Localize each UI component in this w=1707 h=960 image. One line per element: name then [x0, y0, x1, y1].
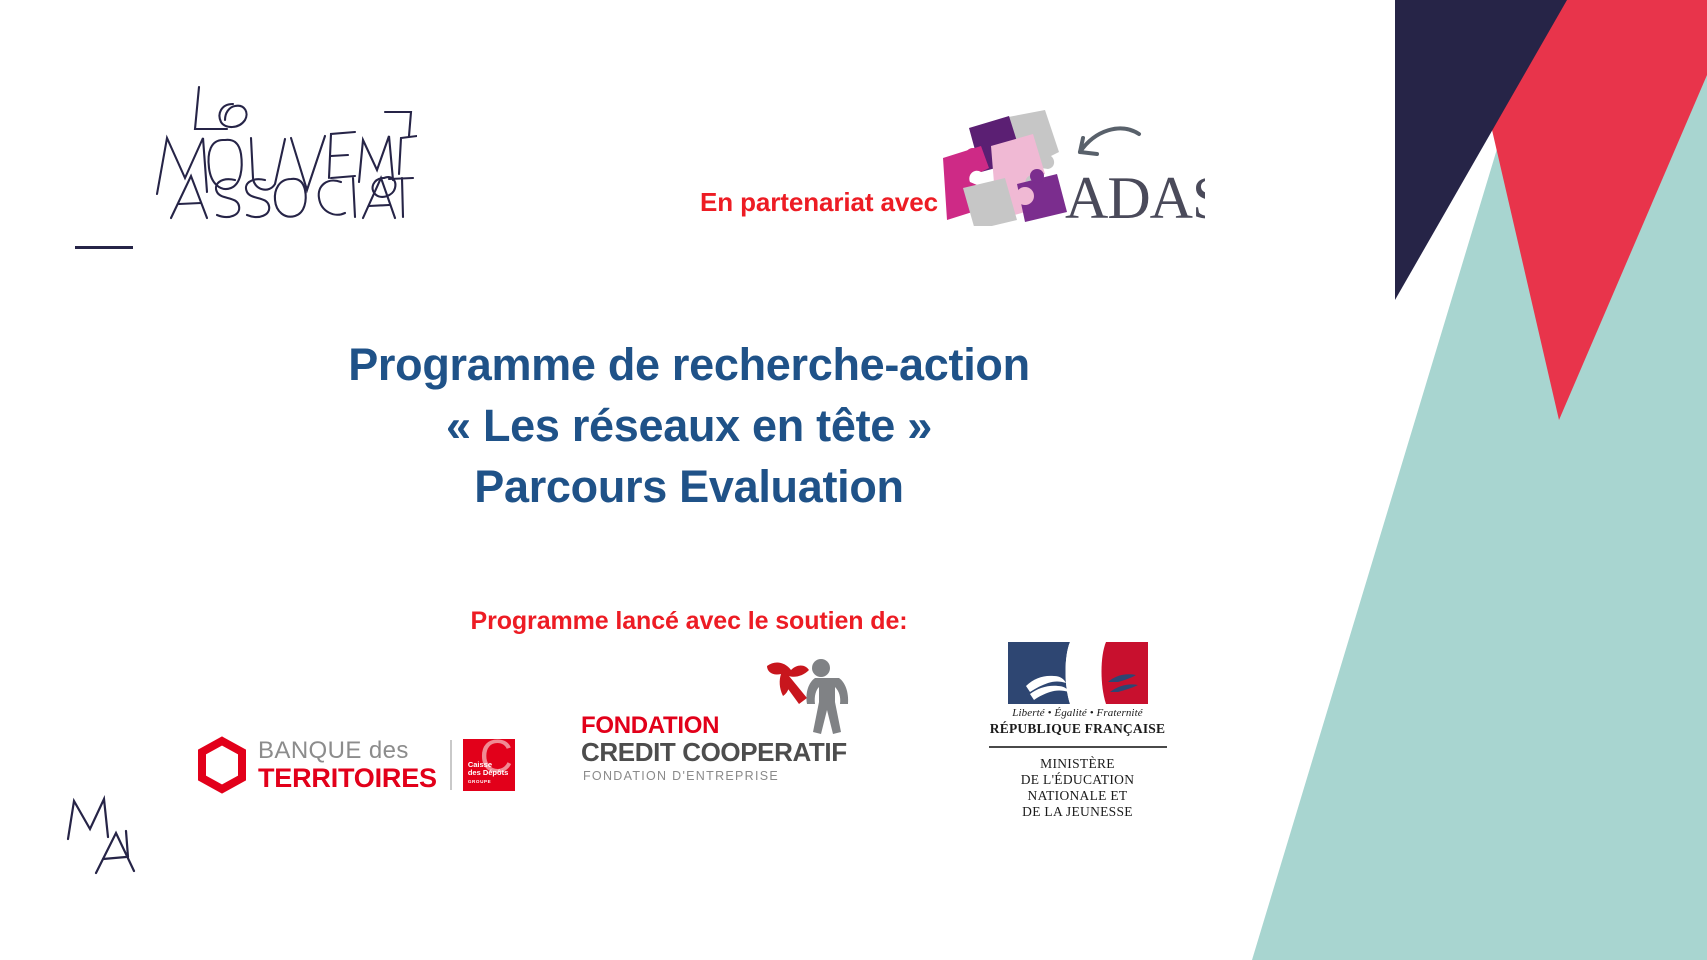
ministry-line-2: DE L'ÉDUCATION: [970, 772, 1185, 788]
le-mouvement-associatif-logo: [155, 82, 417, 222]
support-label: Programme lancé avec le soutien de:: [0, 607, 1378, 636]
fcc-line-3: FONDATION D'ENTREPRISE: [583, 770, 847, 783]
ministry-line-4: DE LA JEUNESSE: [970, 804, 1185, 820]
logo-rule: [989, 746, 1167, 748]
le-mouvement-associatif-monogram: [62, 795, 158, 875]
ministere-education-nationale-logo: Liberté • Égalité • Fraternité RÉPUBLIQU…: [970, 642, 1185, 820]
ministry-line-3: NATIONALE ET: [970, 788, 1185, 804]
french-republic-marianne-icon: [1008, 642, 1148, 704]
page-title: Programme de recherche-action « Les rése…: [0, 334, 1378, 518]
partnership-label: En partenariat avec: [700, 187, 938, 218]
hexagon-ring-icon: [195, 736, 249, 794]
title-line-3: Parcours Evaluation: [0, 456, 1378, 517]
republique-francaise-text: RÉPUBLIQUE FRANÇAISE: [970, 721, 1185, 737]
ministry-line-1: MINISTÈRE: [970, 756, 1185, 772]
logo-underline: [75, 246, 133, 249]
bdt-des-text: des: [362, 737, 409, 764]
ministry-name: MINISTÈRE DE L'ÉDUCATION NATIONALE ET DE…: [970, 756, 1185, 820]
cdc-badge-text: Caisse des Dépôts GROUPE: [468, 761, 508, 787]
adasi-wordmark: ADASI: [1065, 165, 1205, 226]
banque-des-territoires-logo: BANQUE des TERRITOIRES C Caisse des Dépô…: [195, 734, 515, 796]
devise-text: Liberté • Égalité • Fraternité: [970, 707, 1185, 719]
presentation-slide: En partenariat avec A: [0, 0, 1707, 960]
bdt-line-2: TERRITOIRES: [258, 765, 437, 792]
navy-triangle: [1395, 0, 1567, 300]
adasi-puzzle-icon: [943, 110, 1067, 226]
fcc-line-2: CREDIT COOPERATIF: [581, 739, 847, 765]
logo-divider: [450, 740, 452, 790]
fcc-line-1: FONDATION: [581, 714, 847, 738]
cdc-line-3: GROUPE: [468, 778, 508, 787]
caisse-des-depots-badge: C Caisse des Dépôts GROUPE: [463, 739, 515, 791]
fcc-wordmark: FONDATION CREDIT COOPERATIF FONDATION D'…: [581, 714, 847, 783]
sponsor-logo-row: BANQUE des TERRITOIRES C Caisse des Dépô…: [185, 636, 1195, 826]
title-line-1: Programme de recherche-action: [0, 334, 1378, 395]
bdt-banque-text: BANQUE: [258, 737, 362, 764]
adasi-logo: ADASI: [925, 104, 1205, 226]
crimson-triangle: [1462, 0, 1707, 420]
title-line-2: « Les réseaux en tête »: [0, 395, 1378, 456]
adasi-arrow-icon: [1080, 128, 1139, 154]
bdt-line-1: BANQUE des: [258, 739, 437, 763]
cdc-line-2: des Dépôts: [468, 769, 508, 778]
fondation-credit-cooperatif-logo: FONDATION CREDIT COOPERATIF FONDATION D'…: [581, 650, 851, 796]
